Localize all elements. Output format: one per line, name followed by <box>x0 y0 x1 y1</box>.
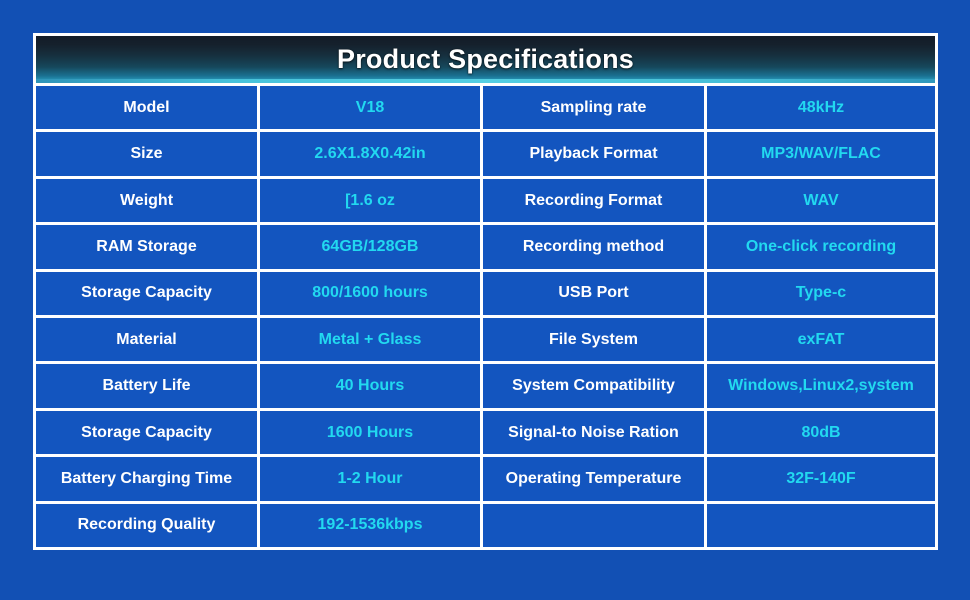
spec-label: Material <box>36 318 257 361</box>
spec-value: 800/1600 hours <box>260 272 480 315</box>
spec-label: Sampling rate <box>483 86 704 129</box>
spec-value: WAV <box>707 179 935 222</box>
table-row: Battery Life 40 Hours System Compatibili… <box>36 364 935 407</box>
table-row: Weight [1.6 oz Recording Format WAV <box>36 179 935 222</box>
header-accent-line <box>36 79 935 83</box>
spec-label-empty <box>483 504 704 547</box>
page-title: Product Specifications <box>337 44 634 75</box>
spec-label: Signal-to Noise Ration <box>483 411 704 454</box>
spec-value: 48kHz <box>707 86 935 129</box>
spec-value: [1.6 oz <box>260 179 480 222</box>
spec-label: File System <box>483 318 704 361</box>
spec-value: 64GB/128GB <box>260 225 480 268</box>
spec-label: Battery Life <box>36 364 257 407</box>
spec-value: 1-2 Hour <box>260 457 480 500</box>
product-specifications-card: Product Specifications Model V18 Samplin… <box>33 33 938 550</box>
specifications-table: Model V18 Sampling rate 48kHz Size 2.6X1… <box>36 83 935 547</box>
spec-value: 1600 Hours <box>260 411 480 454</box>
spec-value: One-click recording <box>707 225 935 268</box>
spec-value: Windows,Linux2,system <box>707 364 935 407</box>
spec-value: 2.6X1.8X0.42in <box>260 132 480 175</box>
spec-value: Type-c <box>707 272 935 315</box>
spec-label: Playback Format <box>483 132 704 175</box>
spec-label: Model <box>36 86 257 129</box>
spec-value: V18 <box>260 86 480 129</box>
spec-label: Recording method <box>483 225 704 268</box>
table-row: Material Metal + Glass File System exFAT <box>36 318 935 361</box>
spec-label: Recording Quality <box>36 504 257 547</box>
spec-label: Storage Capacity <box>36 411 257 454</box>
spec-label: Storage Capacity <box>36 272 257 315</box>
spec-label: Recording Format <box>483 179 704 222</box>
spec-value: 80dB <box>707 411 935 454</box>
spec-label: Weight <box>36 179 257 222</box>
table-row: Storage Capacity 800/1600 hours USB Port… <box>36 272 935 315</box>
spec-value: Metal + Glass <box>260 318 480 361</box>
spec-label: Operating Temperature <box>483 457 704 500</box>
spec-label: System Compatibility <box>483 364 704 407</box>
table-row: Model V18 Sampling rate 48kHz <box>36 86 935 129</box>
table-row: Recording Quality 192-1536kbps <box>36 504 935 547</box>
table-row: Storage Capacity 1600 Hours Signal-to No… <box>36 411 935 454</box>
spec-label: Battery Charging Time <box>36 457 257 500</box>
spec-value: MP3/WAV/FLAC <box>707 132 935 175</box>
table-row: Size 2.6X1.8X0.42in Playback Format MP3/… <box>36 132 935 175</box>
table-row: RAM Storage 64GB/128GB Recording method … <box>36 225 935 268</box>
spec-value: 32F-140F <box>707 457 935 500</box>
table-row: Battery Charging Time 1-2 Hour Operating… <box>36 457 935 500</box>
spec-value: exFAT <box>707 318 935 361</box>
spec-label: USB Port <box>483 272 704 315</box>
spec-value: 40 Hours <box>260 364 480 407</box>
spec-value-empty <box>707 504 935 547</box>
spec-label: RAM Storage <box>36 225 257 268</box>
spec-value: 192-1536kbps <box>260 504 480 547</box>
card-header: Product Specifications <box>36 36 935 83</box>
spec-label: Size <box>36 132 257 175</box>
